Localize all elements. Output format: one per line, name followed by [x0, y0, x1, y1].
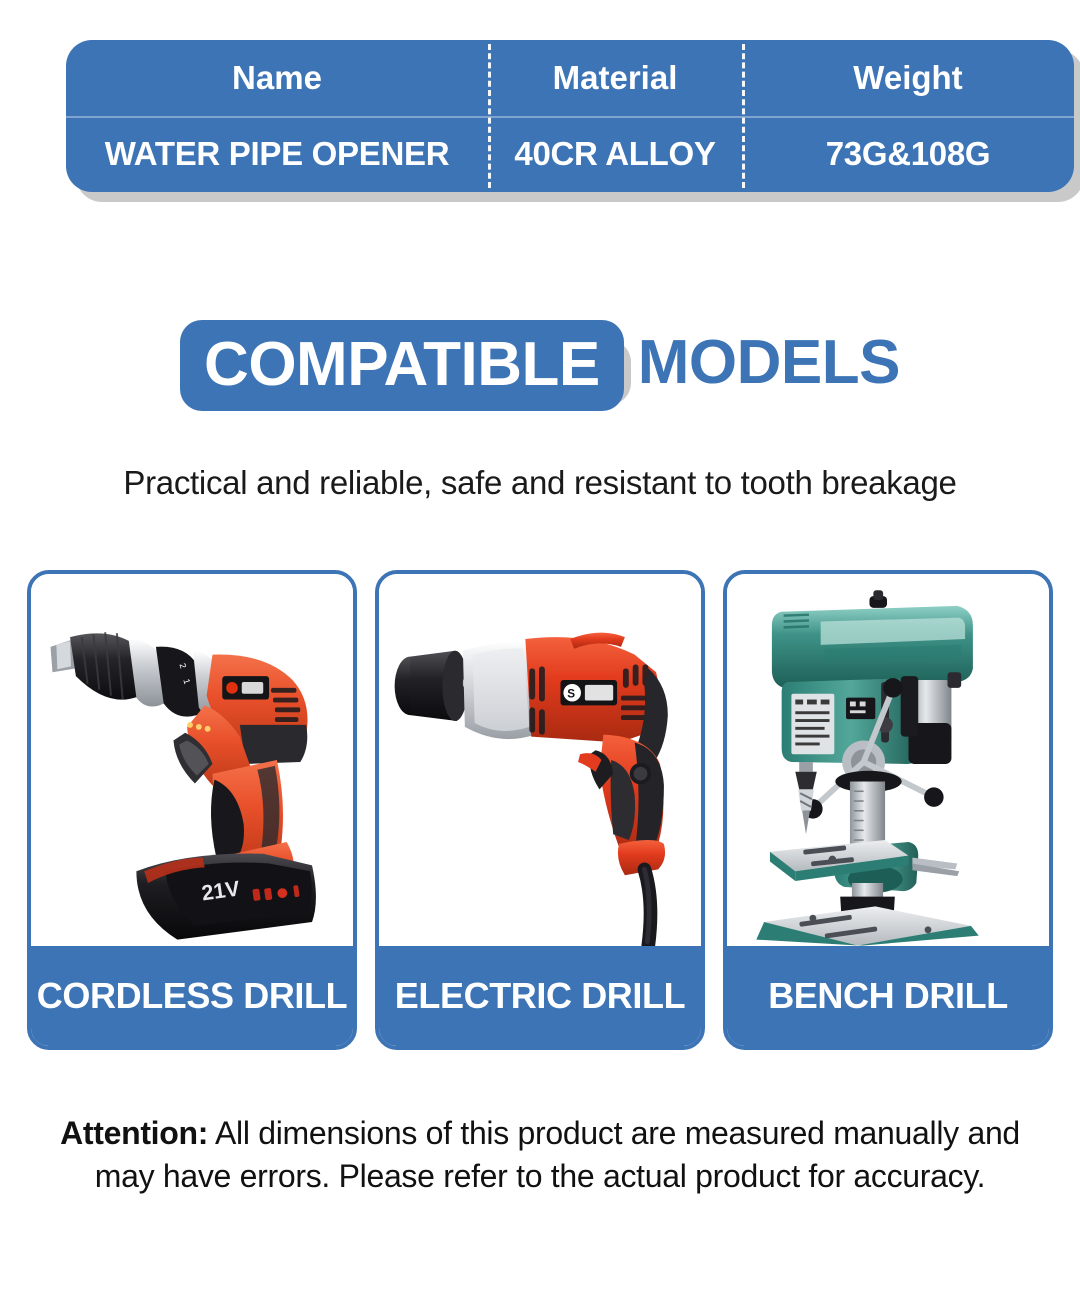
attention-note: Attention: All dimensions of this produc… — [40, 1112, 1040, 1198]
spec-table-divider-1 — [488, 44, 491, 188]
spec-table-divider-2 — [742, 44, 745, 188]
compatible-models-cards: 2 1 — [27, 570, 1053, 1050]
card-bench-drill[interactable]: BENCH DRILL — [723, 570, 1053, 1050]
heading-rest: MODELS — [638, 330, 900, 399]
spec-table-value-row: WATER PIPE OPENER 40CR ALLOY 73G&108G — [66, 116, 1074, 192]
spec-value-material: 40CR ALLOY — [488, 135, 742, 173]
spec-table-body: Name Material Weight WATER PIPE OPENER 4… — [66, 40, 1074, 192]
card-cordless-drill[interactable]: 2 1 — [27, 570, 357, 1050]
section-heading: COMPATIBLE MODELS — [0, 330, 1080, 399]
card-label-electric-drill: ELECTRIC DRILL — [379, 946, 701, 1046]
spec-header-name: Name — [66, 59, 488, 97]
heading-highlight: COMPATIBLE — [180, 320, 624, 411]
cordless-drill-photo: 2 1 — [31, 574, 353, 950]
attention-prefix: Attention: — [60, 1115, 208, 1151]
spec-value-name: WATER PIPE OPENER — [66, 135, 488, 173]
card-label-cordless-drill: CORDLESS DRILL — [31, 946, 353, 1046]
spec-table-header-row: Name Material Weight — [66, 40, 1074, 116]
heading-subtitle: Practical and reliable, safe and resista… — [0, 464, 1080, 502]
card-electric-drill[interactable]: S ELECTRIC DRILL — [375, 570, 705, 1050]
spec-value-weight: 73G&108G — [742, 135, 1074, 173]
card-label-bench-drill: BENCH DRILL — [727, 946, 1049, 1046]
bench-drill-photo — [727, 574, 1049, 950]
spec-header-weight: Weight — [742, 59, 1074, 97]
attention-text: All dimensions of this product are measu… — [95, 1115, 1020, 1194]
spec-table: Name Material Weight WATER PIPE OPENER 4… — [66, 40, 1074, 192]
spec-table-horizontal-divider — [66, 116, 1074, 118]
svg-text:S: S — [567, 688, 575, 701]
spec-header-material: Material — [488, 59, 742, 97]
heading-badge-wrap: COMPATIBLE — [180, 332, 624, 397]
electric-drill-photo: S — [379, 574, 701, 950]
